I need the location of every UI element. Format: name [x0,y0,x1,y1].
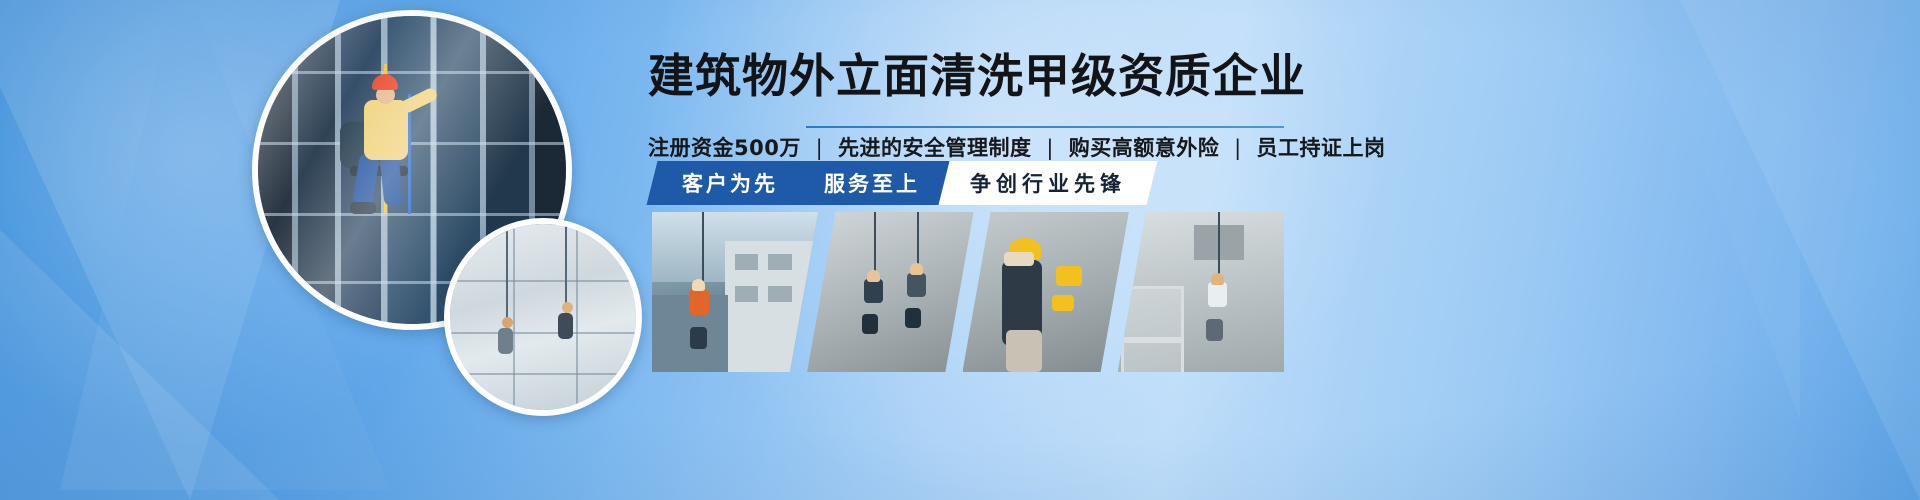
background-triangle-4 [1680,0,1920,500]
strip-photo-4-image [1118,212,1284,372]
strip-photo-1 [652,212,818,372]
banner-headline: 建筑物外立面清洗甲级资质企业 [648,50,1348,102]
banner-subtitle: 注册资金500万 | 先进的安全管理制度 | 购买高额意外险 | 员工持证上岗 [648,134,1348,162]
slogan-industry-pioneer: 争创行业先锋 [970,168,1126,198]
strip-photo-3-image [963,212,1129,372]
subtitle-separator: | [809,136,831,160]
photo-strip [652,212,1284,372]
slogan-bar: 客户为先 服务至上 争创行业先锋 [652,161,1152,205]
slogan-customer-first: 客户为先 [682,168,778,198]
slogan-bar-light: 争创行业先锋 [939,161,1158,205]
strip-photo-2 [807,212,973,372]
wall-workers-image [450,224,636,410]
subtitle-separator: | [1227,136,1249,160]
strip-photo-3 [963,212,1129,372]
subtitle-part-3: 购买高额意外险 [1069,136,1220,160]
subtitle-part-2: 先进的安全管理制度 [838,136,1032,160]
strip-photo-2-image [807,212,973,372]
background-triangle-5 [1640,0,1800,420]
strip-photo-4 [1118,212,1284,372]
slogan-service-supreme: 服务至上 [824,168,920,198]
subtitle-part-4: 员工持证上岗 [1256,136,1385,160]
background-triangle-3 [0,230,300,500]
subtitle-part-1: 注册资金500万 [648,136,801,160]
strip-photo-1-image [652,212,818,372]
slogan-bar-dark: 客户为先 服务至上 [647,161,952,205]
subtitle-separator: | [1039,136,1061,160]
headline-underline [806,126,1284,128]
circle-photo-wall-workers [444,218,642,416]
promo-banner: 建筑物外立面清洗甲级资质企业 注册资金500万 | 先进的安全管理制度 | 购买… [0,0,1920,500]
